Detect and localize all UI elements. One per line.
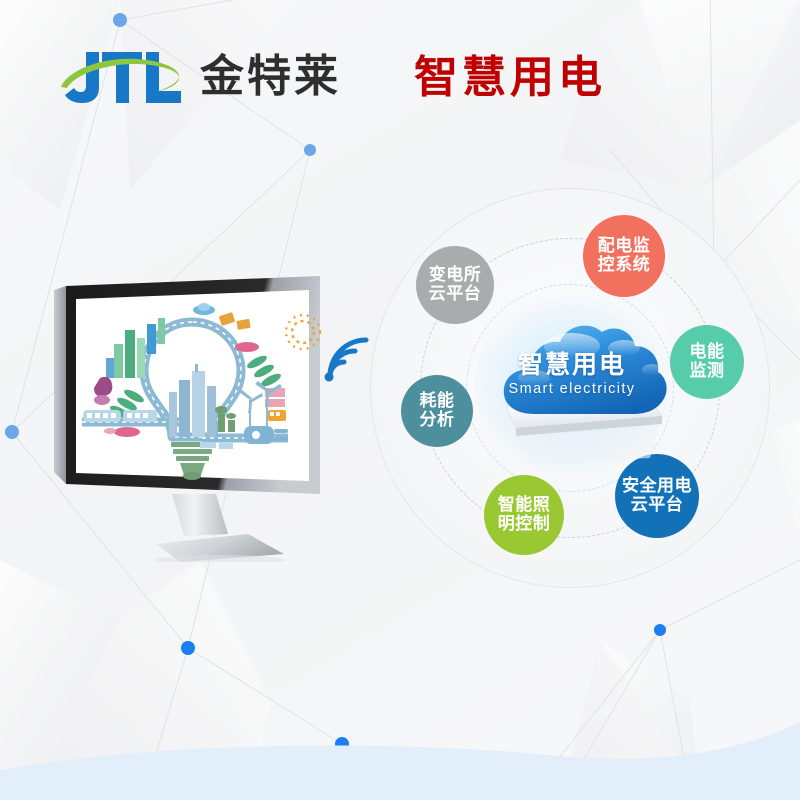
bubble-label-line: 配电监 xyxy=(598,237,651,256)
bubble-label-line: 云平台 xyxy=(631,496,684,515)
company-name: 金特莱 xyxy=(200,46,341,108)
desktop-monitor xyxy=(52,272,352,562)
bubble-power-monitoring[interactable]: 电能监测 xyxy=(670,325,744,399)
bubble-label-line: 明控制 xyxy=(498,515,551,534)
bubble-smart-lighting-control[interactable]: 智能照明控制 xyxy=(484,475,564,555)
bubble-distribution-monitoring-system[interactable]: 配电监控系统 xyxy=(583,215,665,297)
page-title: 智慧用电 xyxy=(414,50,606,106)
bubble-energy-consumption-analysis[interactable]: 耗能分析 xyxy=(401,375,473,447)
banner-header: 金特莱 智慧用电 xyxy=(0,0,800,150)
monitor-stand-neck xyxy=(172,494,228,536)
bubble-label-line: 控系统 xyxy=(598,256,651,275)
bubble-label-line: 监测 xyxy=(690,362,725,381)
bubble-label-line: 安全用电 xyxy=(622,477,692,496)
smart-electricity-diagram: 智慧用电 Smart electricity 变电所云平台配电监控系统电能监测安… xyxy=(370,188,774,592)
bubble-label-line: 变电所 xyxy=(429,266,482,285)
center-cloud-group: 智慧用电 Smart electricity xyxy=(472,298,672,474)
banner-canvas: 金特莱 智慧用电 xyxy=(0,0,800,800)
monitor-side xyxy=(54,286,66,484)
brand-logo: 金特莱 xyxy=(58,46,341,108)
bubble-label-line: 智能照 xyxy=(498,496,551,515)
cloud-shape xyxy=(504,326,667,414)
wifi-signal-icon xyxy=(318,332,374,388)
jtl-logo-icon xyxy=(58,46,186,108)
bubble-label-line: 分析 xyxy=(420,411,455,430)
bubble-label-line: 耗能 xyxy=(420,392,455,411)
bubble-label-line: 电能 xyxy=(690,343,725,362)
